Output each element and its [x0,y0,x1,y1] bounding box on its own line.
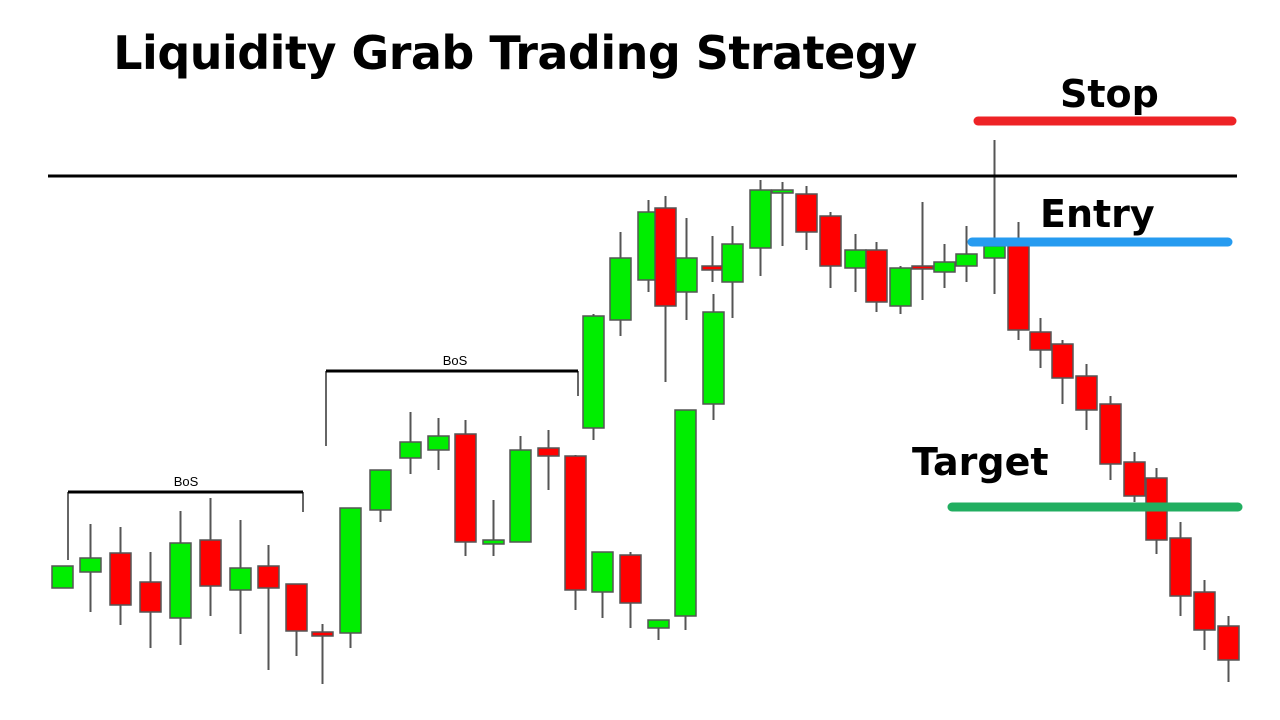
candle [312,624,333,684]
candle [592,552,613,618]
candle [610,232,631,336]
candle [702,236,723,282]
candle [866,242,887,312]
candle [722,226,743,318]
candle [80,524,101,612]
candle [676,218,697,320]
target-label: Target [912,440,1049,484]
stop-label: Stop [1060,72,1159,116]
candle [258,545,279,670]
candle [820,212,841,288]
candle [1052,340,1073,404]
candle [455,420,476,556]
chart-canvas: Liquidity Grab Trading Strategy BoSBoS S… [0,0,1280,720]
candle [1030,318,1051,368]
candle [890,266,911,314]
candle [956,226,977,282]
candle [655,196,676,382]
bos-label: BoS [443,353,468,368]
candle [1218,616,1239,682]
candle [52,566,73,588]
entry-label: Entry [1040,192,1155,236]
candle [750,180,771,276]
candle [340,508,361,648]
candle [400,412,421,474]
candle [170,511,191,645]
candle [230,520,251,634]
candle [772,182,793,246]
candle [1194,580,1215,650]
candle [1076,364,1097,430]
candle [703,294,724,420]
candle [620,552,641,628]
bos-label: BoS [174,474,199,489]
candle [583,314,604,440]
candle [1124,452,1145,502]
candle [1100,396,1121,480]
candle [538,430,559,490]
candle [934,244,955,288]
candle [1170,522,1191,616]
candle [510,436,531,542]
candle [984,140,1005,294]
candle [140,552,161,648]
candle [370,470,391,522]
candle [286,584,307,656]
candle [675,410,696,630]
candle [648,620,669,640]
candle [483,500,504,556]
candle [845,234,866,292]
candle [796,186,817,250]
candle [565,455,586,610]
bos-marker: BoS [326,352,578,446]
candle [200,498,221,616]
candle [428,418,449,470]
candle [110,527,131,625]
candle [912,202,933,300]
